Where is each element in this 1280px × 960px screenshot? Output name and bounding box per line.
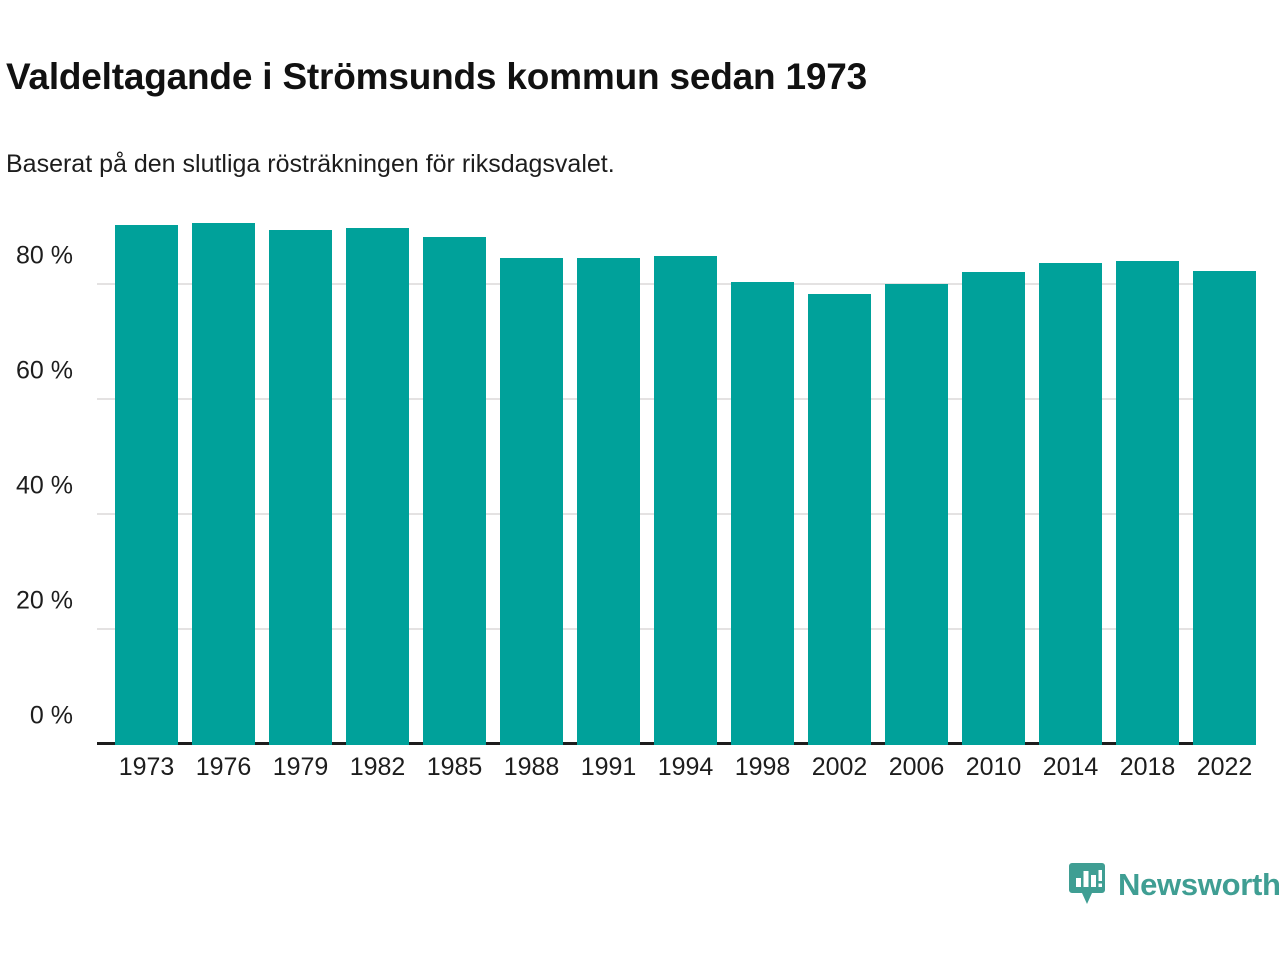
bar-group[interactable]: 2022 (1193, 205, 1256, 745)
x-axis-tick-label: 2018 (1104, 753, 1191, 782)
bar[interactable] (808, 294, 871, 745)
y-axis-tick-label: 80 % (0, 242, 97, 271)
x-axis-tick-label: 1979 (257, 753, 344, 782)
chart-plot-area: 0 %20 %40 %60 %80 % 19731976197919821985… (115, 205, 1250, 745)
x-axis-tick-label: 2014 (1027, 753, 1114, 782)
logo-wordmark: Newsworthy (1118, 869, 1280, 900)
x-axis-tick-label: 1994 (642, 753, 729, 782)
page-title: Valdeltagande i Strömsunds kommun sedan … (6, 56, 867, 98)
bar-group[interactable]: 1991 (577, 205, 640, 745)
x-axis-tick-label: 2002 (796, 753, 883, 782)
x-axis-tick-label: 1988 (488, 753, 575, 782)
y-axis-tick-label: 40 % (0, 472, 97, 501)
x-axis-tick-label: 2022 (1181, 753, 1268, 782)
x-axis-tick-label: 2010 (950, 753, 1037, 782)
bar[interactable] (1116, 261, 1179, 745)
y-axis-tick-label: 20 % (0, 587, 97, 616)
bar[interactable] (192, 223, 255, 745)
bar[interactable] (1193, 271, 1256, 745)
y-axis-tick-label: 60 % (0, 357, 97, 386)
x-axis-tick-label: 1998 (719, 753, 806, 782)
x-axis-tick-label: 1976 (180, 753, 267, 782)
bar-group[interactable]: 2014 (1039, 205, 1102, 745)
bar[interactable] (115, 225, 178, 745)
bar[interactable] (269, 230, 332, 745)
bar-group[interactable]: 1985 (423, 205, 486, 745)
bar-series: 1973197619791982198519881991199419982002… (115, 205, 1250, 745)
bar[interactable] (346, 228, 409, 745)
bar[interactable] (577, 258, 640, 745)
bar-group[interactable]: 2018 (1116, 205, 1179, 745)
bar[interactable] (654, 256, 717, 745)
chart-page: Valdeltagande i Strömsunds kommun sedan … (0, 0, 1280, 960)
x-axis-tick-label: 2006 (873, 753, 960, 782)
x-axis-tick-label: 1973 (103, 753, 190, 782)
bar-group[interactable]: 1994 (654, 205, 717, 745)
bar-group[interactable]: 2010 (962, 205, 1025, 745)
x-axis-tick-label: 1991 (565, 753, 652, 782)
bar-group[interactable]: 2006 (885, 205, 948, 745)
newsworthy-logo: Newsworthy (1068, 862, 1280, 906)
bar-group[interactable]: 1988 (500, 205, 563, 745)
bar[interactable] (885, 284, 948, 745)
bar-group[interactable]: 2002 (808, 205, 871, 745)
bar-group[interactable]: 1998 (731, 205, 794, 745)
bar-group[interactable]: 1979 (269, 205, 332, 745)
bar-group[interactable]: 1976 (192, 205, 255, 745)
bar[interactable] (962, 272, 1025, 745)
bar-group[interactable]: 1982 (346, 205, 409, 745)
x-axis-tick-label: 1982 (334, 753, 421, 782)
bar[interactable] (731, 282, 794, 745)
page-subtitle: Baserat på den slutliga rösträkningen fö… (6, 150, 615, 179)
x-axis-tick-label: 1985 (411, 753, 498, 782)
bar[interactable] (1039, 263, 1102, 745)
bar[interactable] (423, 237, 486, 745)
y-axis-tick-label: 0 % (0, 702, 97, 731)
bar-chart-speech-bubble-icon (1068, 862, 1106, 906)
bar[interactable] (500, 258, 563, 745)
bar-group[interactable]: 1973 (115, 205, 178, 745)
